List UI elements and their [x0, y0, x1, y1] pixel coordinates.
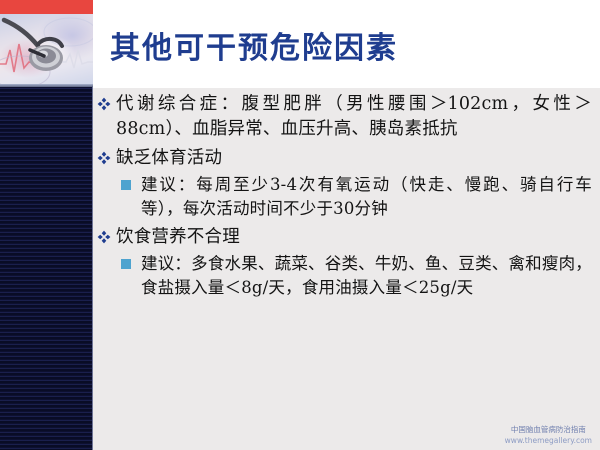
presentation-slide: 其他可干预危险因素 代谢综合症：腹型肥胖（男性腰围＞102cm，女性＞88cm）… [0, 0, 600, 450]
diamond-cluster-bullet-icon [97, 230, 111, 244]
slide-body: 代谢综合症：腹型肥胖（男性腰围＞102cm，女性＞88cm）、血脂异常、血压升高… [97, 92, 592, 304]
bullet-item-level2: 建议：每周至少3-4次有氧运动（快走、慢跑、骑自行车等），每次活动时间不少于30… [121, 173, 592, 221]
footer-organization: 中国脑血管病防治指南 [505, 425, 592, 435]
red-accent-bar [0, 0, 93, 14]
bullet-item-level1: 饮食营养不合理 [97, 225, 592, 250]
bullet-item-level1: 缺乏体育活动 [97, 146, 592, 171]
footer-website[interactable]: www.themegallery.com [505, 436, 592, 446]
bullet-text: 建议：多食水果、蔬菜、谷类、牛奶、鱼、豆类、禽和瘦肉，食盐摄入量＜8g/天，食用… [141, 254, 592, 297]
slide-footer: 中国脑血管病防治指南 www.themegallery.com [505, 425, 592, 446]
bullet-text: 建议：每周至少3-4次有氧运动（快走、慢跑、骑自行车等），每次活动时间不少于30… [141, 175, 592, 218]
square-bullet-icon [121, 259, 131, 269]
stethoscope-icon [0, 14, 93, 86]
diamond-cluster-bullet-icon [97, 151, 111, 165]
stethoscope-ecg-photo [0, 14, 93, 86]
bullet-text: 代谢综合症：腹型肥胖（男性腰围＞102cm，女性＞88cm）、血脂异常、血压升高… [116, 94, 592, 139]
bullet-item-level1: 代谢综合症：腹型肥胖（男性腰围＞102cm，女性＞88cm）、血脂异常、血压升高… [97, 92, 592, 142]
bullet-group-exercise: 缺乏体育活动 建议：每周至少3-4次有氧运动（快走、慢跑、骑自行车等），每次活动… [97, 146, 592, 221]
bullet-item-level2: 建议：多食水果、蔬菜、谷类、牛奶、鱼、豆类、禽和瘦肉，食盐摄入量＜8g/天，食用… [121, 252, 592, 300]
bullet-text: 饮食营养不合理 [116, 227, 240, 247]
bullet-group-diet: 饮食营养不合理 建议：多食水果、蔬菜、谷类、牛奶、鱼、豆类、禽和瘦肉，食盐摄入量… [97, 225, 592, 300]
bullet-group-metabolic: 代谢综合症：腹型肥胖（男性腰围＞102cm，女性＞88cm）、血脂异常、血压升高… [97, 92, 592, 142]
page-title: 其他可干预危险因素 [110, 23, 398, 67]
square-bullet-icon [121, 180, 131, 190]
left-decoration-column [0, 0, 93, 450]
striped-sidebar [0, 87, 93, 450]
diamond-cluster-bullet-icon [97, 97, 111, 111]
bullet-text: 缺乏体育活动 [116, 148, 222, 168]
